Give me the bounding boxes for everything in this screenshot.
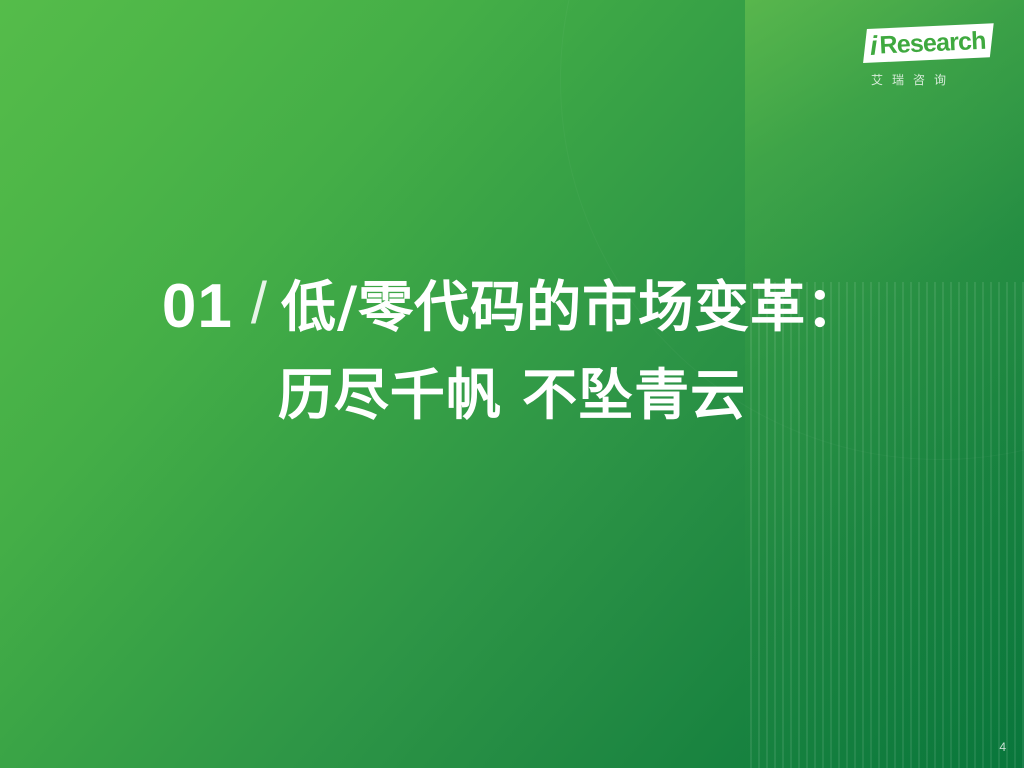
logo-mark: i Research bbox=[865, 26, 993, 68]
right-accent-panel bbox=[745, 0, 1024, 768]
logo-wordmark: i Research bbox=[869, 25, 990, 62]
page-number: 4 bbox=[999, 740, 1006, 754]
logo-letter-i: i bbox=[869, 32, 877, 59]
logo-word-research: Research bbox=[879, 28, 986, 58]
iresearch-logo: i Research 艾瑞咨询 bbox=[865, 26, 1000, 101]
slide-root: i Research 艾瑞咨询 01 / 低/零代码的市场变革： 历尽千帆 不坠… bbox=[0, 0, 1024, 768]
logo-chinese-name: 艾瑞咨询 bbox=[871, 71, 997, 88]
